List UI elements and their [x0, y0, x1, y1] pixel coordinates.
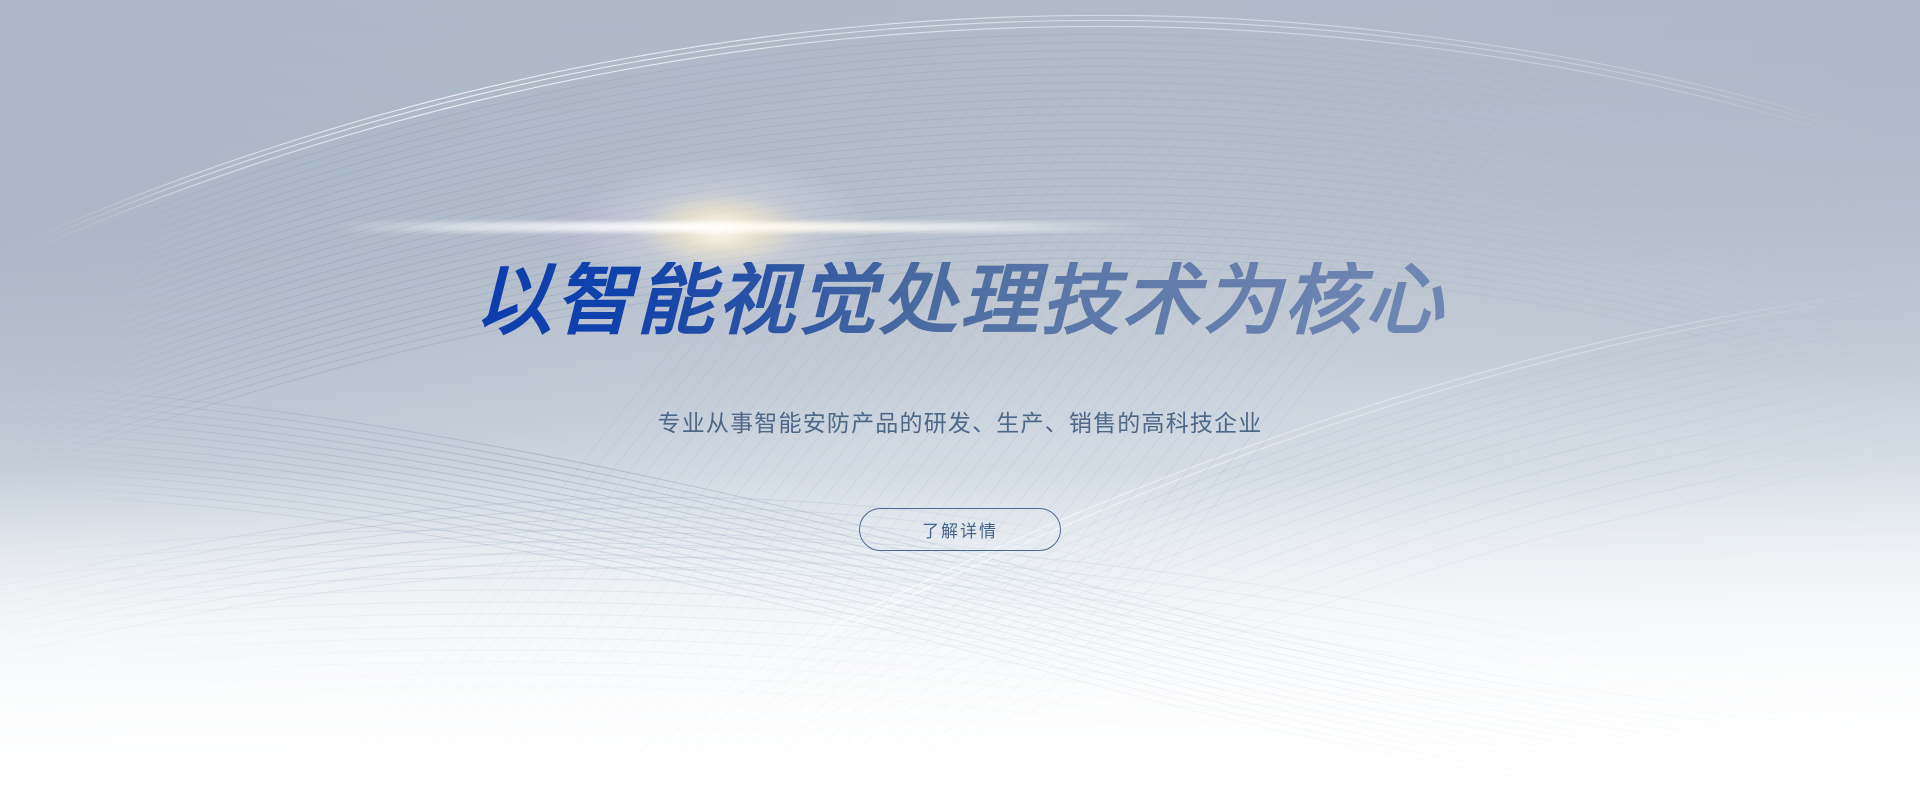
page-title: 以智能视觉处理技术为核心: [0, 262, 1920, 340]
learn-more-button[interactable]: 了解详情: [859, 508, 1061, 551]
hero-content: 以智能视觉处理技术为核心 专业从事智能安防产品的研发、生产、销售的高科技企业 了…: [0, 0, 1920, 800]
hero-banner: 以智能视觉处理技术为核心 专业从事智能安防产品的研发、生产、销售的高科技企业 了…: [0, 0, 1920, 800]
cta-container: 了解详情: [0, 508, 1920, 551]
hero-subtitle: 专业从事智能安防产品的研发、生产、销售的高科技企业: [0, 404, 1920, 438]
